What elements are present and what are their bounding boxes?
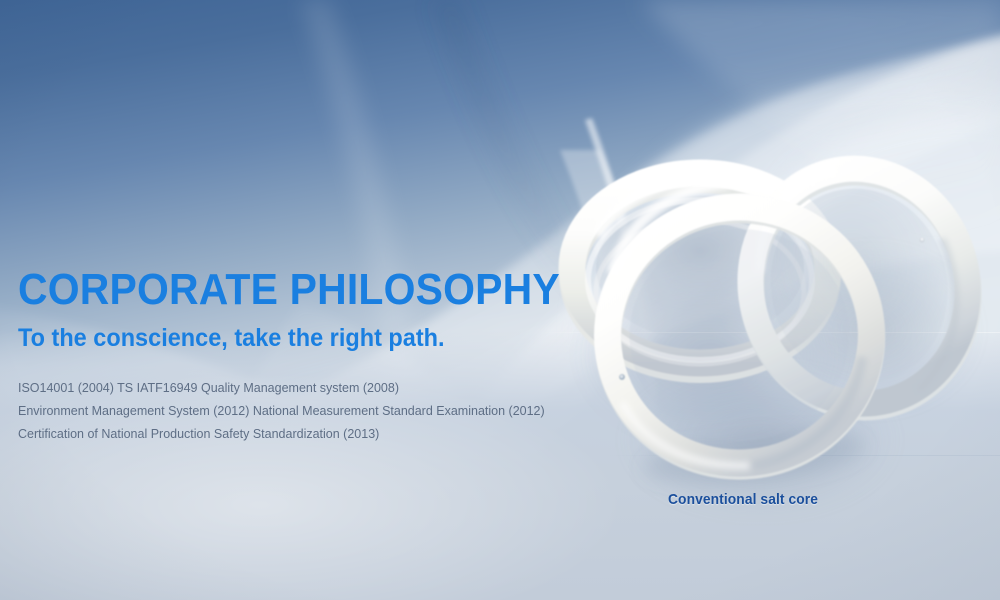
certification-line: Environment Management System (2012) Nat… (18, 400, 638, 423)
corporate-philosophy-banner: CORPORATE PHILOSOPHY To the conscience, … (0, 0, 1000, 600)
certification-list: ISO14001 (2004) TS IATF16949 Quality Man… (18, 377, 638, 446)
certification-line: ISO14001 (2004) TS IATF16949 Quality Man… (18, 377, 638, 400)
certification-line: Certification of National Production Saf… (18, 423, 638, 446)
philosophy-text-block: CORPORATE PHILOSOPHY To the conscience, … (18, 268, 638, 446)
page-subtitle: To the conscience, take the right path. (18, 326, 601, 351)
page-title: CORPORATE PHILOSOPHY (18, 268, 595, 312)
product-caption: Conventional salt core (668, 491, 818, 508)
